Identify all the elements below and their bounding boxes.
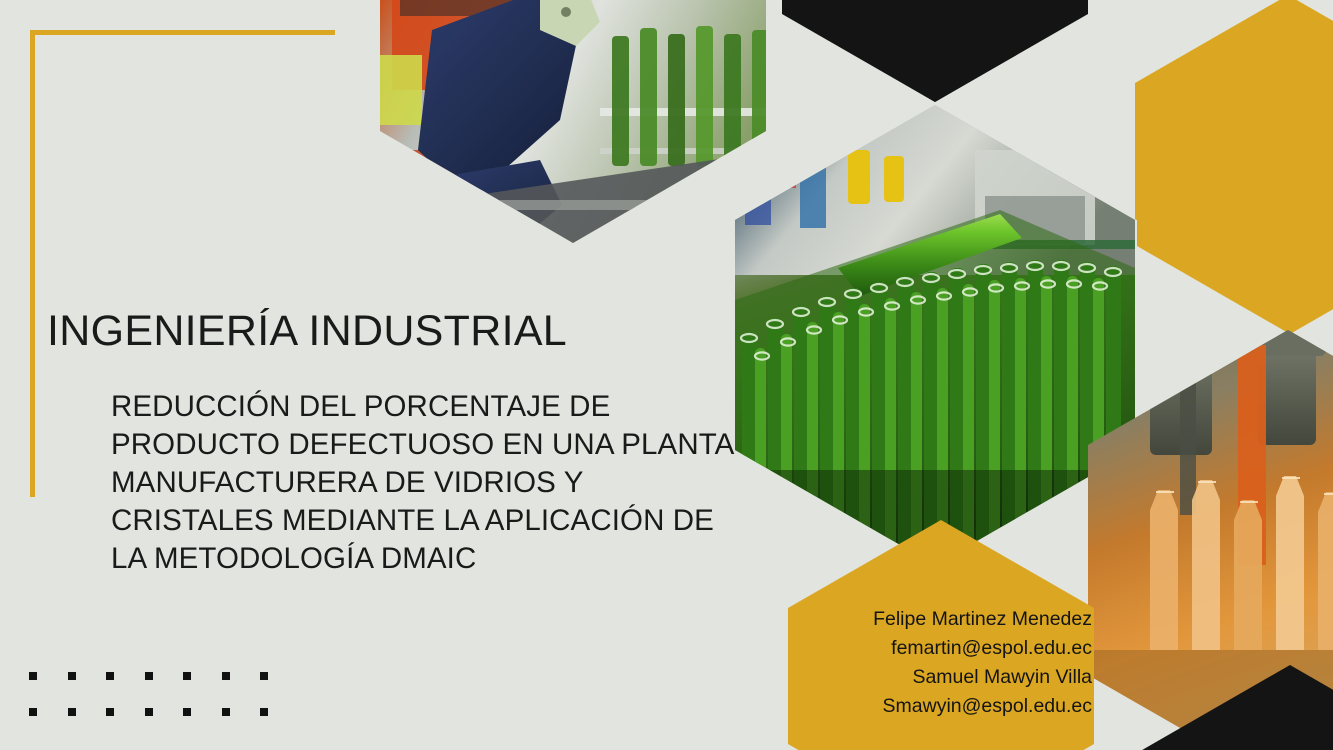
hex-green-bottles xyxy=(730,100,1142,570)
dot xyxy=(183,708,191,716)
author-name-2: Samuel Mawyin Villa xyxy=(790,663,1092,692)
dot xyxy=(29,708,37,716)
dot xyxy=(68,708,76,716)
dot xyxy=(145,672,153,680)
dot xyxy=(222,672,230,680)
dot xyxy=(68,672,76,680)
dot xyxy=(260,672,268,680)
subtitle-line-1: REDUCCIÓN DEL PORCENTAJE DE xyxy=(111,388,771,426)
author-name-1: Felipe Martinez Menedez xyxy=(790,605,1092,634)
subtitle-line-2: PRODUCTO DEFECTUOSO EN UNA PLANTA xyxy=(111,426,771,464)
author-email-2: Smawyin@espol.edu.ec xyxy=(790,692,1092,721)
bracket-top-line xyxy=(30,30,335,35)
subtitle-line-4: CRISTALES MEDIANTE LA APLICACIÓN DE xyxy=(111,502,771,540)
hex-orange-bottles xyxy=(1085,325,1333,750)
dot xyxy=(183,672,191,680)
dot xyxy=(260,708,268,716)
subtitle-line-5: LA METODOLOGÍA DMAIC xyxy=(111,540,771,578)
dot xyxy=(106,708,114,716)
author-email-1: femartin@espol.edu.ec xyxy=(790,634,1092,663)
bracket-left-line xyxy=(30,30,35,497)
hex-black-bottom xyxy=(1137,665,1333,750)
page-title: INGENIERÍA INDUSTRIAL xyxy=(47,308,567,354)
dot xyxy=(145,708,153,716)
hex-worker-photo xyxy=(370,0,780,260)
dot xyxy=(29,672,37,680)
subtitle-line-3: MANUFACTURERA DE VIDRIOS Y xyxy=(111,464,771,502)
hex-black-top xyxy=(785,0,1085,102)
hex-gold-top xyxy=(1135,0,1333,307)
decorative-dot-grid xyxy=(29,672,299,744)
hexagon-collage xyxy=(0,0,1333,750)
page-subtitle: REDUCCIÓN DEL PORCENTAJE DE PRODUCTO DEF… xyxy=(111,388,771,578)
dot xyxy=(222,708,230,716)
dot xyxy=(106,672,114,680)
presentation-slide: INGENIERÍA INDUSTRIAL REDUCCIÓN DEL PORC… xyxy=(0,0,1333,750)
author-block: Felipe Martinez Menedez femartin@espol.e… xyxy=(790,605,1092,721)
